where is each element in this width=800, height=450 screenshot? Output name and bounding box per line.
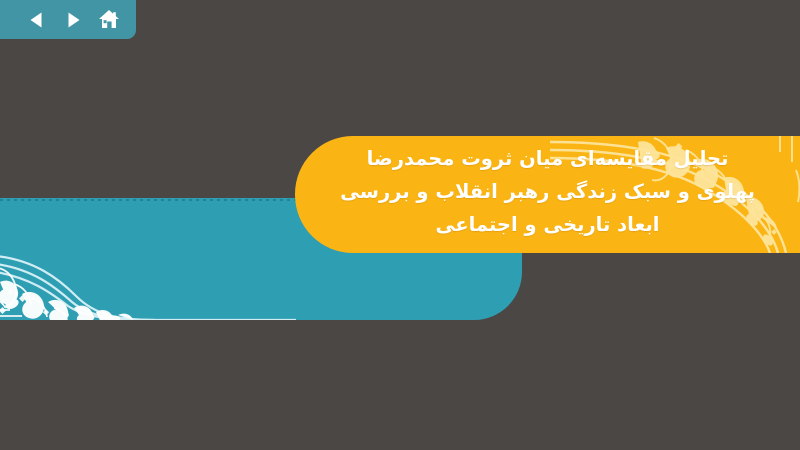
- title-line-2: پهلوی و سبک زندگی رهبر انقلاب و بررسی: [329, 175, 766, 208]
- home-icon: [98, 9, 120, 30]
- navigation-bar: [0, 0, 136, 39]
- title-line-1: تحلیل مقایسه‌ای میان ثروت محمدرضا: [329, 142, 766, 175]
- title-banner: تحلیل مقایسه‌ای میان ثروت محمدرضا پهلوی …: [295, 136, 800, 253]
- back-button[interactable]: [22, 6, 52, 34]
- home-button[interactable]: [94, 6, 124, 34]
- triangle-right-icon: [63, 10, 83, 30]
- slide-title: تحلیل مقایسه‌ای میان ثروت محمدرضا پهلوی …: [295, 136, 800, 241]
- title-line-3: ابعاد تاریخی و اجتماعی: [329, 208, 766, 241]
- triangle-left-icon: [27, 10, 47, 30]
- teal-arabesque-ornament-icon: [0, 198, 296, 320]
- presentation-slide: تحلیل مقایسه‌ای میان ثروت محمدرضا پهلوی …: [0, 0, 800, 450]
- forward-button[interactable]: [58, 6, 88, 34]
